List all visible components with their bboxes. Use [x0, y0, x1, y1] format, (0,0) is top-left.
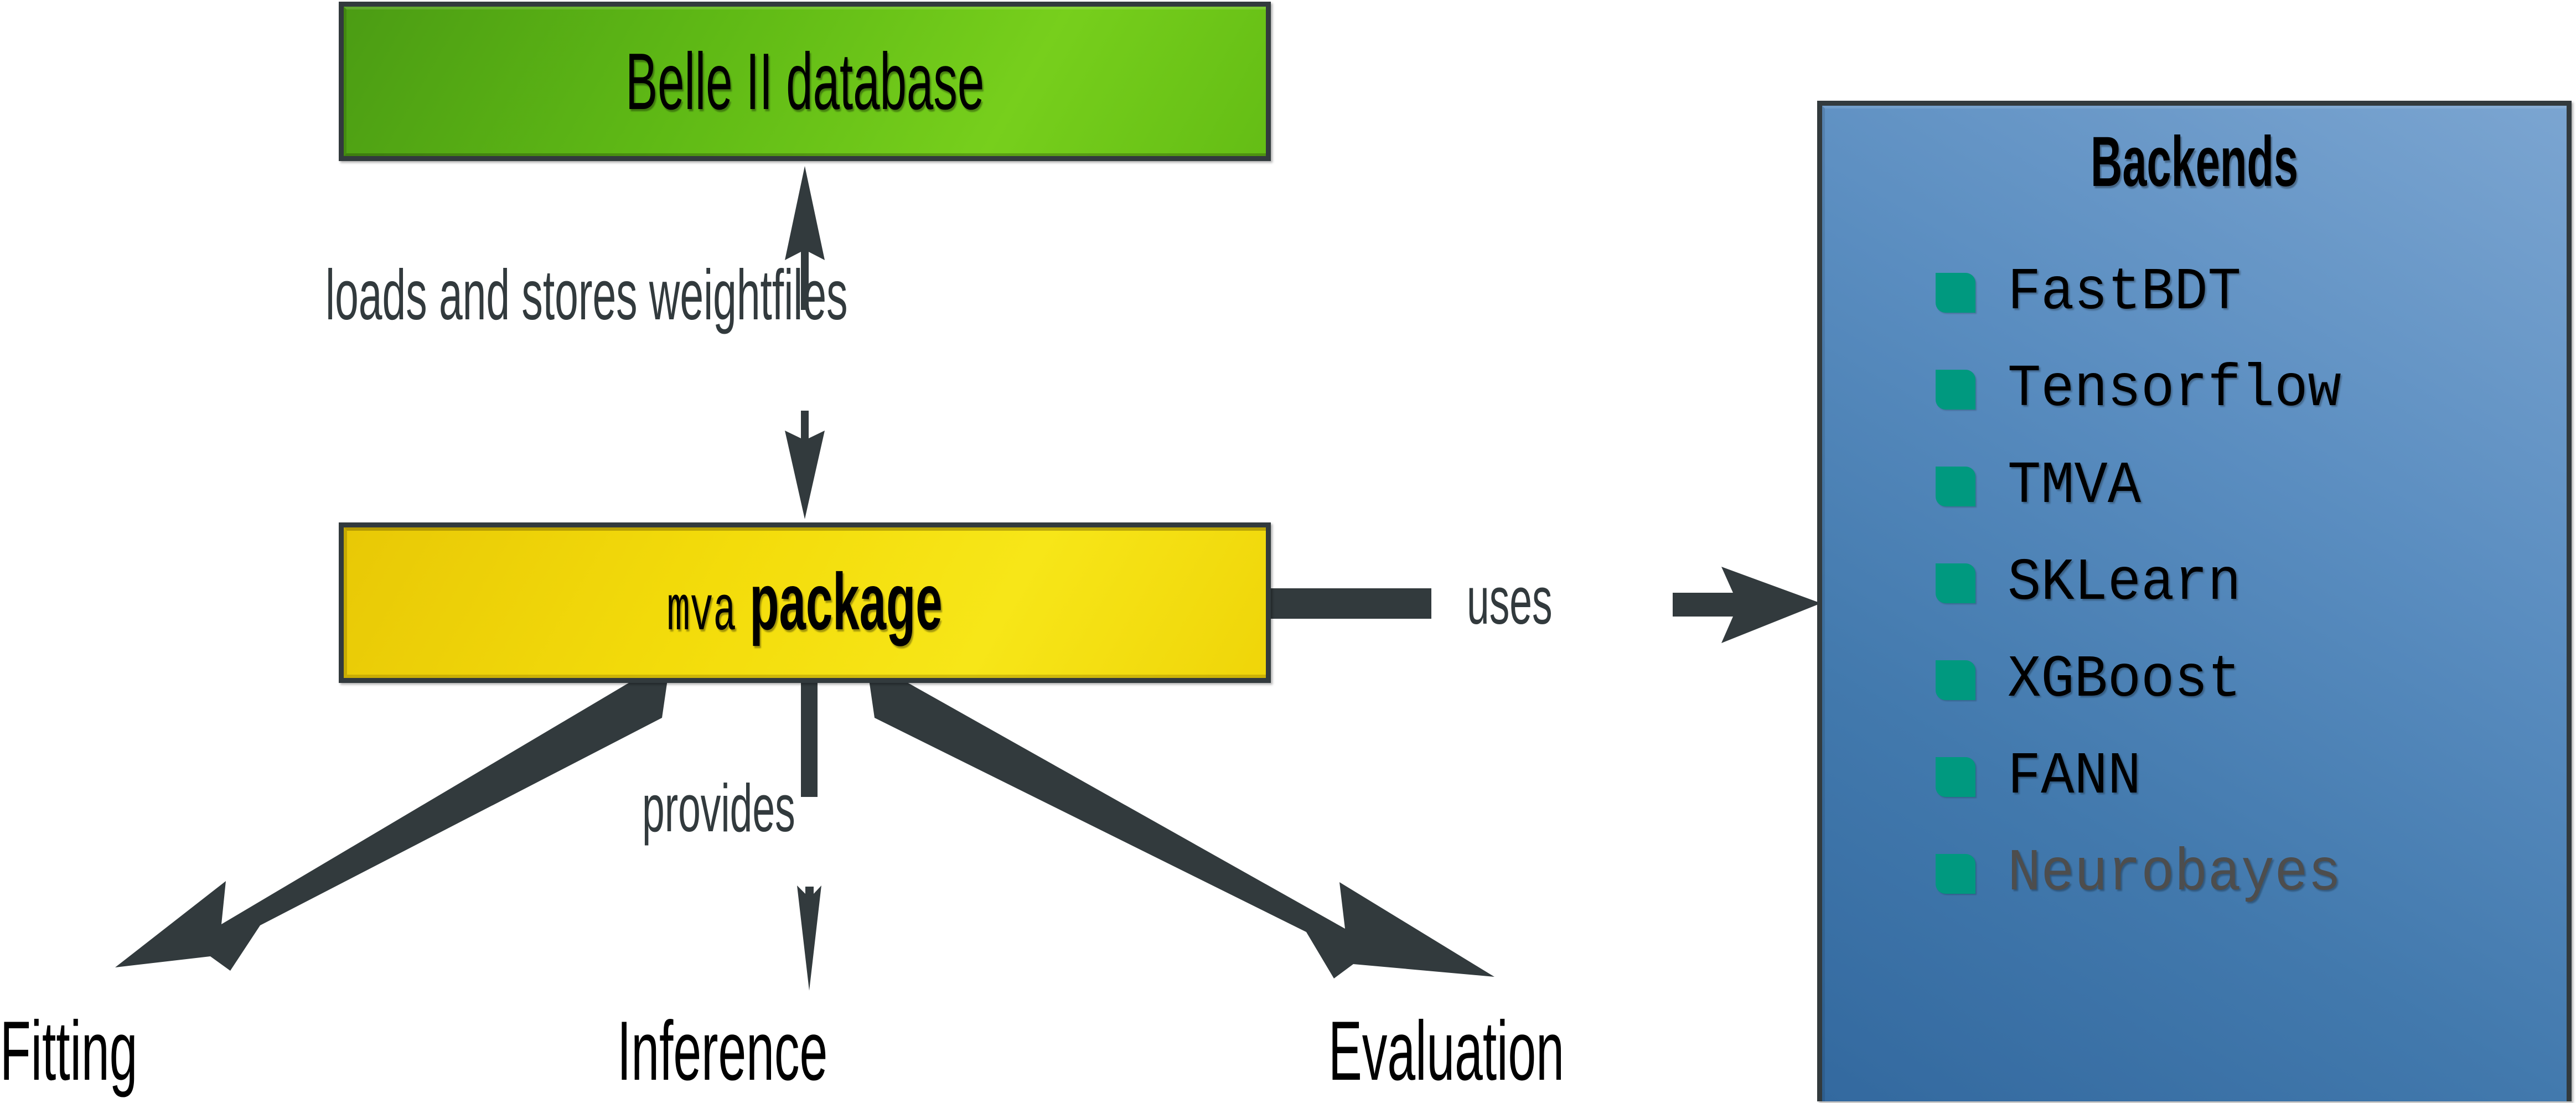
bullet-square-icon: [1936, 273, 1975, 313]
arrow-provides-evaluation: [869, 680, 1494, 978]
backend-label: FastBDT: [2008, 263, 2241, 323]
bullet-square-icon: [1936, 563, 1975, 603]
edge-label-uses: uses: [1467, 567, 1553, 634]
backend-label: TMVA: [2008, 457, 2141, 516]
diagram-canvas: Belle II database mva package Backends F…: [0, 0, 2576, 1103]
database-box-label: Belle II database: [625, 42, 984, 122]
terminal-label-fitting: Fitting: [0, 1009, 137, 1093]
mva-package-word-spacer: [736, 557, 749, 646]
backend-label: SKLearn: [2008, 553, 2241, 613]
mva-package-box[interactable]: mva package: [339, 522, 1271, 683]
arrow-provides-inference: [797, 680, 821, 991]
arrow-uses-stub: [1271, 588, 1431, 619]
backends-panel[interactable]: Backends FastBDT Tensorflow TMVA SKLearn: [1817, 101, 2572, 1101]
backend-label: Neurobayes: [2008, 844, 2341, 904]
backend-item-xgboost[interactable]: XGBoost: [1936, 631, 2567, 728]
backends-list: FastBDT Tensorflow TMVA SKLearn XGBoost: [1936, 244, 2567, 922]
terminal-label-inference: Inference: [617, 1009, 827, 1093]
bullet-square-icon: [1936, 854, 1975, 894]
backend-label: XGBoost: [2008, 650, 2241, 710]
package-bold-token: package: [750, 557, 943, 646]
backend-item-fastbdt[interactable]: FastBDT: [1936, 244, 2567, 341]
mva-package-box-label: mva package: [667, 562, 943, 644]
backend-label: FANN: [2008, 747, 2141, 807]
arrow-down-to-package: [785, 411, 825, 519]
backends-panel-title: Backends: [1964, 127, 2425, 198]
backend-item-sklearn[interactable]: SKLearn: [1936, 535, 2567, 631]
backend-item-fann[interactable]: FANN: [1936, 728, 2567, 825]
bullet-square-icon: [1936, 660, 1975, 700]
edge-label-provides: provides: [642, 774, 795, 842]
backend-item-tmva[interactable]: TMVA: [1936, 438, 2567, 535]
edge-label-loads-and-stores-weightfiles: loads and stores weightfiles: [325, 260, 847, 331]
backend-item-neurobayes[interactable]: Neurobayes: [1936, 825, 2567, 922]
arrow-provides-fitting: [115, 680, 668, 971]
arrow-uses-head: [1673, 567, 1821, 643]
mva-mono-token: mva: [667, 576, 736, 649]
backend-label: Tensorflow: [2008, 360, 2341, 420]
terminal-label-evaluation: Evaluation: [1328, 1009, 1564, 1093]
bullet-square-icon: [1936, 467, 1975, 506]
backend-item-tensorflow[interactable]: Tensorflow: [1936, 341, 2567, 438]
bullet-square-icon: [1936, 370, 1975, 410]
belle2-database-box[interactable]: Belle II database: [339, 2, 1271, 161]
bullet-square-icon: [1936, 757, 1975, 797]
